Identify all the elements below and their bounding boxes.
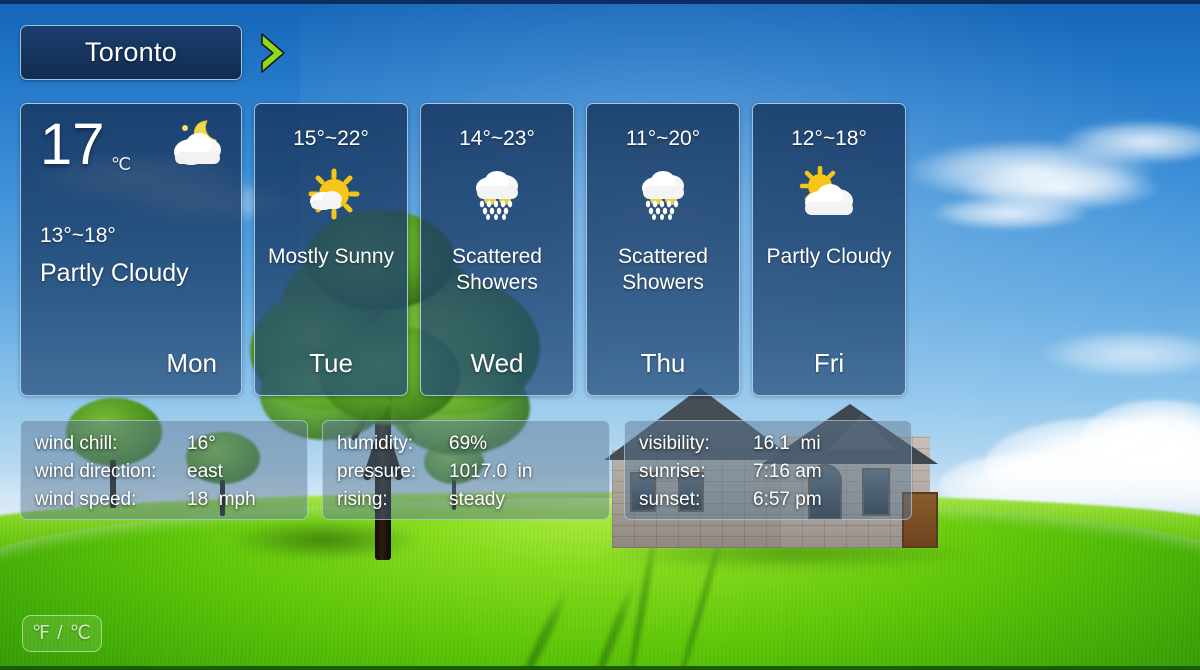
forecast-day-label: Tue (255, 348, 407, 379)
bottom-edge (0, 666, 1200, 670)
forecast-temp-range: 14°~23° (421, 127, 573, 151)
forecast-condition: Mostly Sunny (261, 244, 401, 270)
forecast-card-fri[interactable]: 12°~18° (752, 103, 906, 396)
sun-cloud-icon (753, 166, 905, 228)
detail-label: humidity: (337, 433, 449, 455)
sun-small-cloud-icon (255, 166, 407, 228)
forecast-card-wed[interactable]: 14°~23° (420, 103, 574, 396)
forecast-condition: Scattered Showers (593, 244, 733, 296)
city-name-label: Toronto (85, 37, 177, 68)
rain-cloud-icon (587, 166, 739, 228)
city-selector-bar: Toronto (20, 25, 292, 80)
current-condition: Partly Cloudy (40, 259, 189, 288)
detail-row: rising: steady (337, 489, 595, 517)
chevron-right-icon[interactable] (256, 30, 292, 76)
detail-row: wind chill: 16° (35, 433, 293, 461)
top-edge (0, 0, 1200, 4)
current-temperature-unit: ℃ (111, 154, 131, 175)
detail-label: pressure: (337, 461, 449, 483)
detail-row: wind speed: 18 mph (35, 489, 293, 517)
forecast-temp-range: 12°~18° (753, 127, 905, 151)
unit-toggle-button[interactable]: ℉ / ℃ (22, 615, 102, 652)
forecast-card-thu[interactable]: 11°~20° (586, 103, 740, 396)
detail-value: east (187, 461, 223, 483)
sun-details-panel[interactable]: visibility: 16.1 mi sunrise: 7:16 am sun… (624, 420, 912, 520)
detail-value: steady (449, 489, 505, 511)
detail-row: visibility: 16.1 mi (639, 433, 897, 461)
forecast-condition: Scattered Showers (427, 244, 567, 296)
forecast-card-tue[interactable]: 15°~22° (254, 103, 408, 396)
detail-value: 1017.0 in (449, 461, 532, 483)
forecast-day-label: Fri (753, 348, 905, 379)
detail-row: humidity: 69% (337, 433, 595, 461)
forecast-temp-range: 11°~20° (587, 127, 739, 151)
city-button[interactable]: Toronto (20, 25, 242, 80)
current-temperature: 17 (40, 116, 105, 174)
forecast-row: 17 ℃ 13°~18° Partly Cloudy (20, 103, 906, 396)
detail-value: 69% (449, 433, 487, 455)
detail-row: pressure: 1017.0 in (337, 461, 595, 489)
forecast-day-label: Wed (421, 348, 573, 379)
moon-cloud-icon (161, 116, 227, 173)
detail-label: sunset: (639, 489, 753, 511)
details-row: wind chill: 16° wind direction: east win… (20, 420, 912, 520)
detail-row: sunrise: 7:16 am (639, 461, 897, 489)
detail-value: 16° (187, 433, 216, 455)
detail-label: rising: (337, 489, 449, 511)
detail-row: wind direction: east (35, 461, 293, 489)
current-temp-range: 13°~18° (40, 224, 116, 248)
current-weather-card[interactable]: 17 ℃ 13°~18° Partly Cloudy (20, 103, 242, 396)
detail-label: visibility: (639, 433, 753, 455)
current-temp-block: 17 ℃ (21, 104, 241, 196)
wind-details-panel[interactable]: wind chill: 16° wind direction: east win… (20, 420, 308, 520)
detail-value: 18 mph (187, 489, 256, 511)
unit-toggle-label: ℉ / ℃ (32, 622, 92, 645)
current-day-label: Mon (166, 348, 217, 379)
detail-value: 7:16 am (753, 461, 822, 483)
detail-label: wind speed: (35, 489, 187, 511)
detail-value: 16.1 mi (753, 433, 821, 455)
detail-label: wind direction: (35, 461, 187, 483)
detail-label: wind chill: (35, 433, 187, 455)
rain-cloud-icon (421, 166, 573, 228)
detail-row: sunset: 6:57 pm (639, 489, 897, 517)
forecast-temp-range: 15°~22° (255, 127, 407, 151)
atmosphere-details-panel[interactable]: humidity: 69% pressure: 1017.0 in rising… (322, 420, 610, 520)
forecast-day-label: Thu (587, 348, 739, 379)
detail-value: 6:57 pm (753, 489, 822, 511)
forecast-condition: Partly Cloudy (759, 244, 899, 270)
weather-app-screen: Toronto 17 ℃ (0, 0, 1200, 670)
detail-label: sunrise: (639, 461, 753, 483)
